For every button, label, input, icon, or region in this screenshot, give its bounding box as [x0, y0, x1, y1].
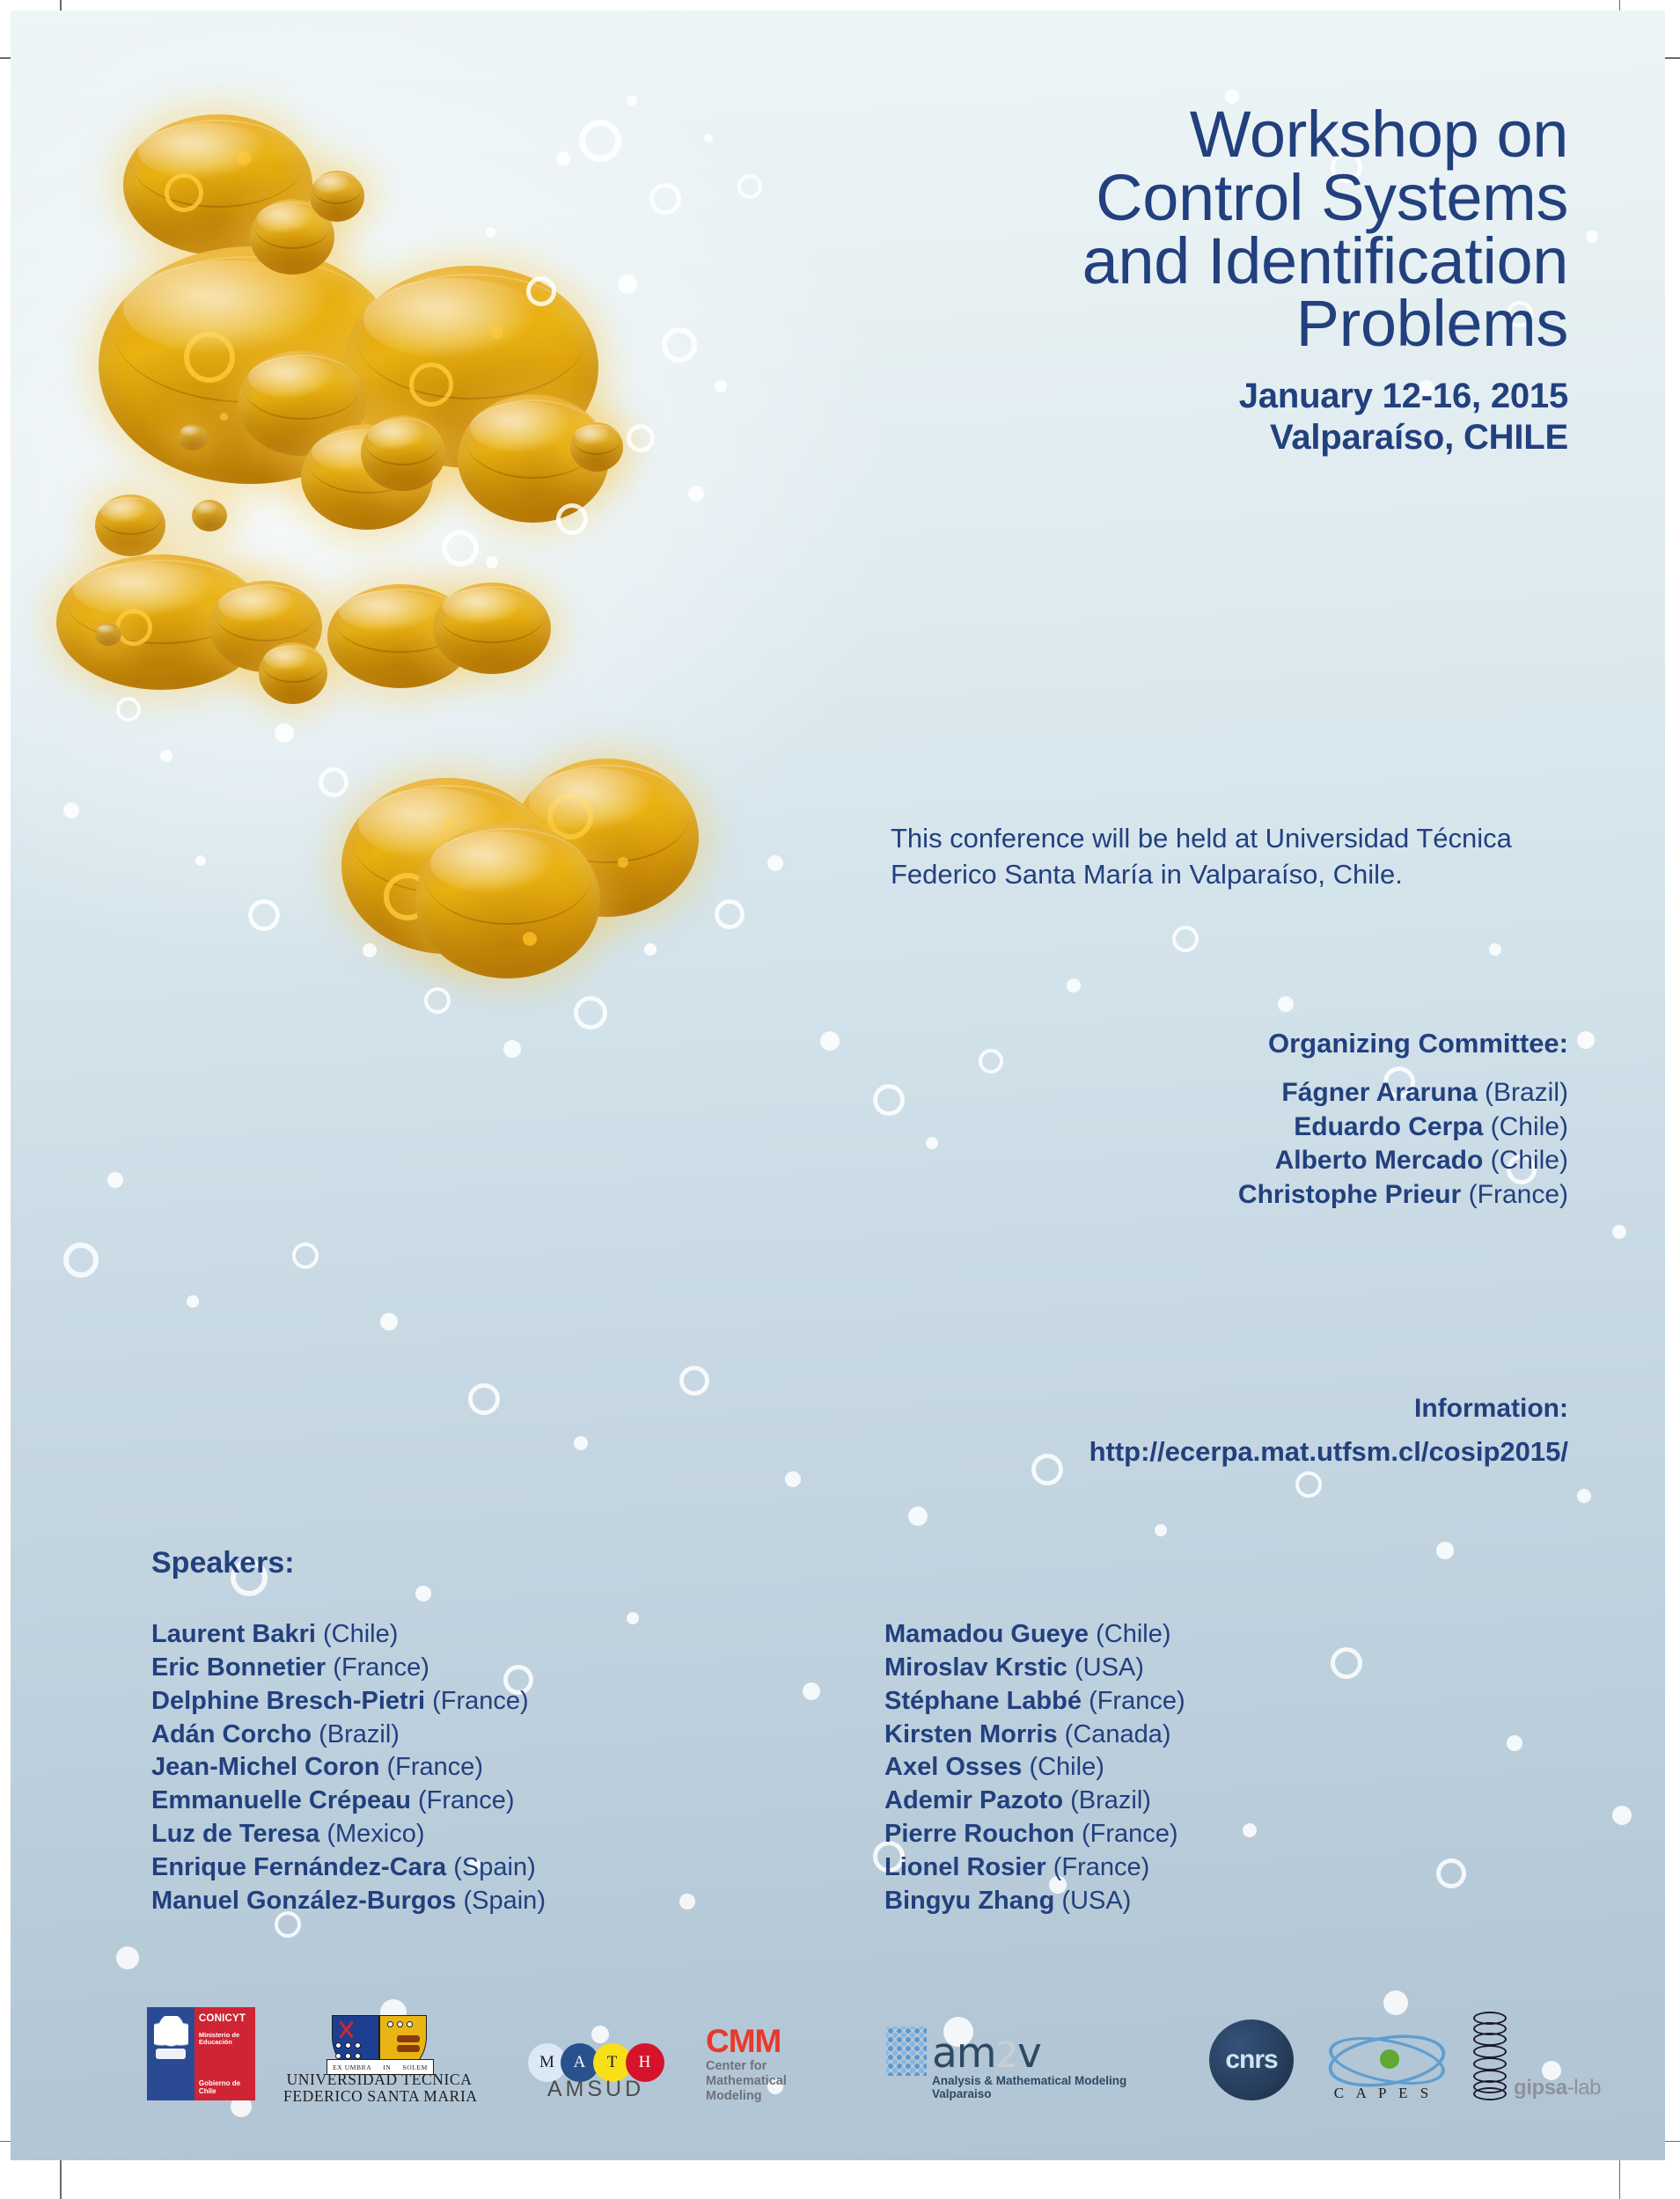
committee-member-country: (France) [1469, 1180, 1568, 1209]
gipsa-lab-logo: gipsa-lab [1471, 2076, 1647, 2100]
speaker-country: (Canada) [1065, 1720, 1171, 1748]
speaker-country: (France) [333, 1653, 429, 1682]
speaker-name: Lionel Rosier [884, 1853, 1046, 1881]
speaker-country: (USA) [1061, 1887, 1131, 1915]
amber-droplet [361, 415, 445, 491]
am2v-mark-am: am [932, 2029, 996, 2078]
speaker-item: Emmanuelle Crépeau (France) [151, 1785, 546, 1818]
cmm-sub-line-2: Mathematical [706, 2074, 855, 2089]
amber-droplet [95, 623, 121, 646]
speaker-item: Delphine Bresch-Pietri (France) [151, 1685, 546, 1719]
speaker-name: Bingyu Zhang [884, 1887, 1054, 1915]
information-label: Information: [776, 1394, 1568, 1424]
conicyt-government: Gobierno de Chile [199, 2079, 255, 2095]
organizing-committee-section: Organizing Committee: Fágner Araruna (Br… [838, 1028, 1568, 1213]
speaker-name: Jean-Michel Coron [151, 1753, 379, 1781]
capes-logo: C A P E S [1322, 2034, 1445, 2102]
speaker-country: (Brazil) [319, 1720, 400, 1748]
am2v-wordmark: am2v [932, 2034, 1177, 2072]
speaker-item: Bingyu Zhang (USA) [884, 1885, 1185, 1918]
speaker-item: Laurent Bakri (Chile) [151, 1618, 546, 1652]
title-line-4: Problems [838, 292, 1568, 356]
speaker-country: (Mexico) [326, 1820, 424, 1848]
speaker-country: (France) [1053, 1853, 1150, 1881]
am2v-subtitle: Analysis & Mathematical Modeling Valpara… [932, 2074, 1177, 2100]
speaker-item: Kirsten Morris (Canada) [884, 1719, 1185, 1752]
committee-member-name: Eduardo Cerpa [1294, 1112, 1483, 1141]
capes-orbit-icon [1328, 2034, 1439, 2081]
committee-member-country: (Chile) [1491, 1112, 1568, 1141]
speaker-item: Adán Corcho (Brazil) [151, 1719, 546, 1752]
date-location-block: January 12-16, 2015 Valparaíso, CHILE [838, 376, 1568, 458]
speaker-item: Miroslav Krstic (USA) [884, 1652, 1185, 1685]
speaker-item: Enrique Fernández-Cara (Spain) [151, 1851, 546, 1885]
speaker-country: (Chile) [1029, 1753, 1104, 1781]
gipsa-wordmark: gipsa-lab [1514, 2076, 1647, 2100]
speakers-heading: Speakers: [151, 1546, 295, 1580]
capes-name: C A P E S [1322, 2085, 1445, 2102]
title-line-3: and Identification [838, 230, 1568, 293]
conicyt-name: CONICYT [199, 2013, 246, 2024]
speaker-item: Axel Osses (Chile) [884, 1751, 1185, 1785]
speaker-name: Mamadou Gueye [884, 1620, 1089, 1648]
speaker-name: Laurent Bakri [151, 1620, 316, 1648]
am2v-dot-matrix-icon [886, 2027, 927, 2076]
speaker-country: (France) [418, 1786, 515, 1814]
title-line-2: Control Systems [838, 166, 1568, 230]
gipsa-suffix: -lab [1567, 2076, 1601, 2100]
cmm-subtitle: Center for Mathematical Modeling [706, 2059, 855, 2104]
title-line-1: Workshop on [838, 103, 1568, 166]
cnrs-logo: cnrs [1209, 2019, 1294, 2100]
utfsm-logo: EX UMBRA IN SOLEM UNIVERSIDAD TECNICA FE… [283, 2015, 475, 2106]
cmm-sub-line-3: Modeling [706, 2089, 855, 2104]
speaker-country: (Chile) [323, 1620, 398, 1648]
speaker-name: Luz de Teresa [151, 1820, 319, 1848]
utfsm-motto: EX UMBRA IN SOLEM [326, 2059, 435, 2075]
speaker-item: Ademir Pazoto (Brazil) [884, 1785, 1185, 1818]
committee-member: Christophe Prieur (France) [838, 1178, 1568, 1213]
amber-droplet [433, 583, 551, 674]
conicyt-logo: CONICYT Ministerio de Educación Gobierno… [147, 2007, 255, 2100]
speaker-country: (France) [1082, 1820, 1178, 1848]
ministry-line-2: Educación [199, 2039, 239, 2047]
speaker-item: Manuel González-Burgos (Spain) [151, 1885, 546, 1918]
committee-member-country: (Chile) [1491, 1146, 1568, 1175]
utfsm-shield-icon: EX UMBRA IN SOLEM [332, 2015, 427, 2068]
chile-coat-of-arms-icon [154, 2016, 188, 2051]
committee-member: Eduardo Cerpa (Chile) [838, 1110, 1568, 1145]
speaker-item: Luz de Teresa (Mexico) [151, 1818, 546, 1851]
speaker-country: (France) [432, 1687, 529, 1715]
speaker-name: Adán Corcho [151, 1720, 312, 1748]
speaker-item: Jean-Michel Coron (France) [151, 1751, 546, 1785]
amber-droplet [178, 424, 208, 451]
speaker-country: (France) [387, 1753, 484, 1781]
conference-url[interactable]: http://ecerpa.mat.utfsm.cl/cosip2015/ [776, 1436, 1568, 1468]
cmm-logo: CMM Center for Mathematical Modeling [706, 2027, 855, 2104]
amsud-wordmark: AMSUD [512, 2077, 679, 2102]
amber-droplet [310, 171, 364, 222]
speaker-name: Miroslav Krstic [884, 1653, 1067, 1682]
am2v-logo: am2v Analysis & Mathematical Modeling Va… [886, 2034, 1177, 2100]
motto-left: EX UMBRA [333, 2063, 371, 2071]
speakers-left-column: Laurent Bakri (Chile) Eric Bonnetier (Fr… [151, 1618, 546, 1918]
speaker-country: (USA) [1075, 1653, 1144, 1682]
speaker-country: (France) [1089, 1687, 1185, 1715]
gipsa-totem-icon [1471, 2016, 1505, 2100]
motto-mid: IN [383, 2063, 391, 2071]
motto-right: SOLEM [403, 2063, 428, 2071]
page-title: Workshop on Control Systems and Identifi… [838, 103, 1568, 356]
conicyt-ministry: Ministerio de Educación [199, 2032, 239, 2048]
speaker-country: (Brazil) [1070, 1786, 1151, 1814]
speaker-country: (Chile) [1096, 1620, 1170, 1648]
am2v-mark-v: v [1017, 2029, 1041, 2078]
speaker-item: Lionel Rosier (France) [884, 1851, 1185, 1885]
amber-droplet [415, 822, 600, 979]
am2v-mark-2: 2 [996, 2035, 1017, 2076]
speaker-name: Axel Osses [884, 1753, 1022, 1781]
amber-droplet [192, 500, 227, 531]
speaker-name: Eric Bonnetier [151, 1653, 326, 1682]
amber-droplet [259, 642, 327, 704]
committee-member: Alberto Mercado (Chile) [838, 1144, 1568, 1178]
information-section: Information: http://ecerpa.mat.utfsm.cl/… [776, 1394, 1568, 1468]
math-amsud-logo: M A T H AMSUD [512, 2043, 679, 2102]
speaker-name: Ademir Pazoto [884, 1786, 1063, 1814]
organizing-committee-heading: Organizing Committee: [838, 1028, 1568, 1059]
cmm-acronym: CMM [706, 2027, 855, 2056]
sponsor-logo-strip: CONICYT Ministerio de Educación Gobierno… [11, 1997, 1665, 2120]
speaker-name: Kirsten Morris [884, 1720, 1058, 1748]
gipsa-name: gipsa [1514, 2076, 1567, 2100]
conference-location: Valparaíso, CHILE [838, 417, 1568, 458]
speaker-country: (Spain) [453, 1853, 536, 1881]
committee-member: Fágner Araruna (Brazil) [838, 1076, 1568, 1110]
cmm-sub-line-1: Center for [706, 2059, 855, 2074]
poster-canvas: Workshop on Control Systems and Identifi… [11, 11, 1665, 2160]
speaker-name: Stéphane Labbé [884, 1687, 1082, 1715]
venue-description: This conference will be held at Universi… [891, 820, 1586, 892]
speaker-name: Delphine Bresch-Pietri [151, 1687, 425, 1715]
committee-member-name: Fágner Araruna [1281, 1078, 1477, 1107]
conference-date: January 12-16, 2015 [838, 376, 1568, 417]
speaker-item: Stéphane Labbé (France) [884, 1685, 1185, 1719]
cnrs-acronym: cnrs [1225, 2045, 1277, 2075]
committee-member-name: Christophe Prieur [1238, 1180, 1461, 1209]
speaker-name: Pierre Rouchon [884, 1820, 1075, 1848]
speaker-name: Manuel González-Burgos [151, 1887, 456, 1915]
amber-droplet [95, 495, 165, 556]
speakers-right-column: Mamadou Gueye (Chile) Miroslav Krstic (U… [884, 1618, 1185, 1918]
committee-member-name: Alberto Mercado [1275, 1146, 1484, 1175]
speaker-name: Enrique Fernández-Cara [151, 1853, 446, 1881]
speaker-name: Emmanuelle Crépeau [151, 1786, 411, 1814]
utfsm-name-line-2: FEDERICO SANTA MARIA [283, 2088, 475, 2106]
speaker-item: Eric Bonnetier (France) [151, 1652, 546, 1685]
amber-droplet [570, 422, 623, 472]
speaker-item: Pierre Rouchon (France) [884, 1818, 1185, 1851]
committee-member-country: (Brazil) [1485, 1078, 1568, 1107]
speaker-item: Mamadou Gueye (Chile) [884, 1618, 1185, 1652]
speaker-country: (Spain) [463, 1887, 546, 1915]
